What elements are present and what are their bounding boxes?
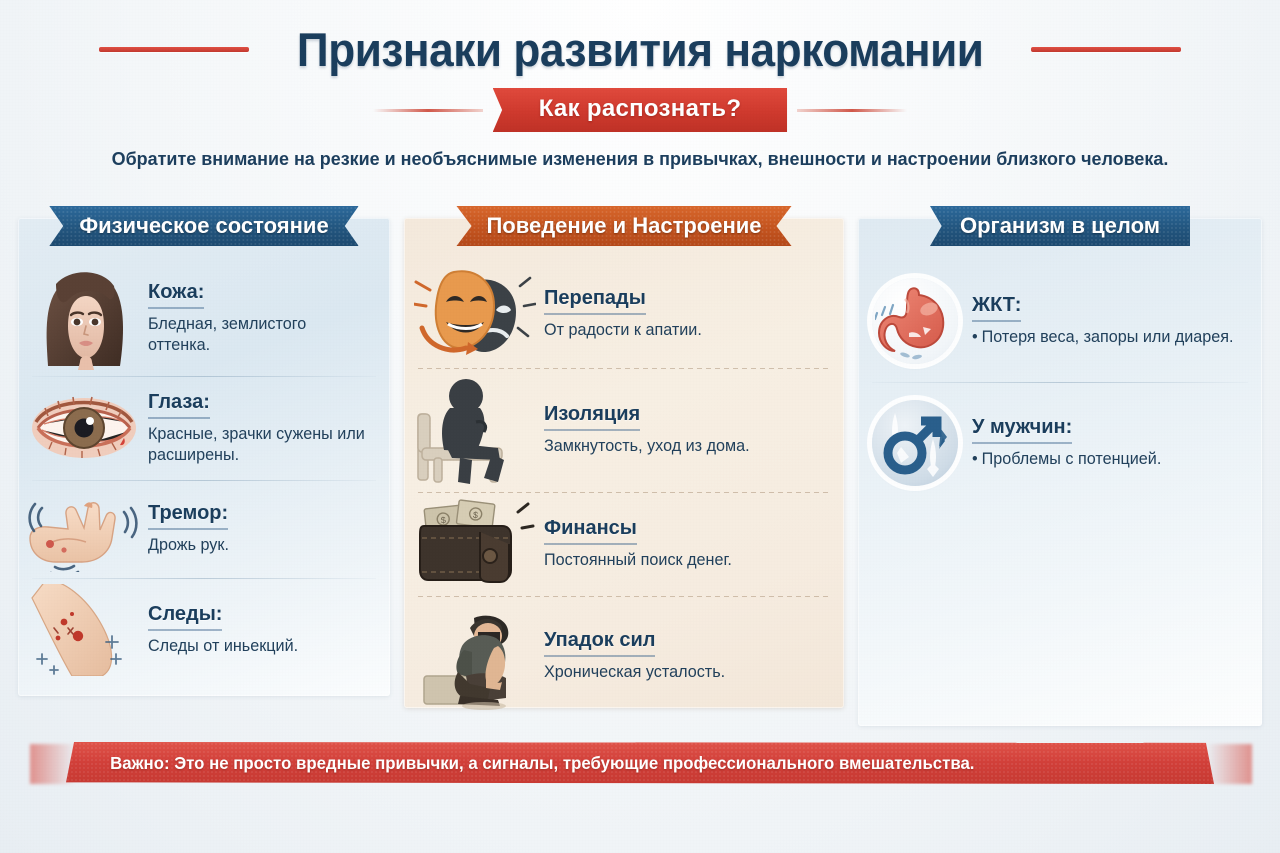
item-kicker: Глаза:: [148, 391, 210, 419]
header: Признаки развития наркомании Как распозн…: [0, 0, 1280, 190]
item-desc: Бледная, землистого оттенка.: [148, 314, 371, 354]
stomach-icon: [872, 278, 958, 364]
list-item[interactable]: Глаза: Красные, зрачки сужены или расшир…: [18, 376, 390, 480]
item-kicker: Финансы: [544, 517, 637, 545]
item-text: Изоляция Замкнутость, уход из дома.: [544, 403, 830, 456]
item-kicker: Изоляция: [544, 403, 640, 431]
item-desc: •Потеря веса, запоры или диарея.: [972, 327, 1242, 347]
exhausted-man-icon: [414, 602, 536, 710]
column-heading-behaviour: Поведение и Настроение: [456, 206, 791, 246]
item-text: Перепады От радости к апатии.: [544, 287, 830, 340]
item-kicker: У мужчин:: [972, 416, 1072, 444]
wallet-money-icon: $ $: [414, 498, 536, 590]
subtitle-dash-right: [797, 109, 907, 112]
person-on-chair-icon: [414, 374, 536, 486]
bullet-glyph: •: [972, 450, 978, 468]
list-item[interactable]: ЖКТ: •Потеря веса, запоры или диарея.: [858, 260, 1262, 382]
trembling-hand-icon: [28, 486, 140, 572]
item-desc: Красные, зрачки сужены или расширены.: [148, 424, 371, 464]
subtitle-dash-left: [373, 109, 483, 112]
item-kicker: ЖКТ:: [972, 294, 1021, 322]
item-kicker: Следы:: [148, 603, 222, 631]
item-kicker: Упадок сил: [544, 629, 655, 657]
list-item[interactable]: $ $ Фина: [404, 492, 844, 596]
item-desc: От радости к апатии.: [544, 320, 824, 340]
footer-fray-right: [1206, 744, 1252, 784]
item-desc-text: Проблемы с потенцией.: [982, 450, 1162, 468]
subtitle-badge: Как распознать?: [493, 88, 788, 132]
list-item[interactable]: Упадок сил Хроническая усталость.: [404, 596, 844, 716]
theatre-masks-icon: [414, 266, 536, 362]
item-desc: Дрожь рук.: [148, 535, 371, 555]
column-heading-physical: Физическое состояние: [49, 206, 358, 246]
item-text: Следы: Следы от иньекций.: [148, 603, 376, 656]
footer-fray-left: [30, 744, 76, 784]
item-text: Кожа: Бледная, землистого оттенка.: [148, 281, 376, 354]
item-desc-text: Потеря веса, запоры или диарея.: [982, 328, 1234, 346]
item-text: Финансы Постоянный поиск денег.: [544, 517, 830, 570]
list-item[interactable]: Тремор: Дрожь рук.: [18, 480, 390, 578]
title-dash-left: [99, 47, 249, 52]
male-symbol-icon: [872, 400, 958, 486]
subtitle-row: Как распознать?: [0, 88, 1280, 132]
list-item[interactable]: Следы: Следы от иньекций.: [18, 578, 390, 682]
bullet-glyph: •: [972, 328, 978, 346]
column-heading-body: Организм в целом: [930, 206, 1190, 246]
item-desc: Следы от иньекций.: [148, 636, 371, 656]
lead-paragraph: Обратите внимание на резкие и необъясним…: [19, 148, 1261, 170]
item-text: Упадок сил Хроническая усталость.: [544, 629, 830, 682]
item-desc: •Проблемы с потенцией.: [972, 449, 1242, 469]
item-text: У мужчин: •Проблемы с потенцией.: [966, 416, 1248, 469]
list-item[interactable]: Кожа: Бледная, землистого оттенка.: [18, 260, 390, 376]
woman-face-icon: [28, 266, 140, 370]
column-body: Организм в целом: [858, 218, 1262, 726]
items-behaviour: Перепады От радости к апатии.: [404, 260, 844, 700]
item-kicker: Перепады: [544, 287, 646, 315]
footer-banner: Важно: Это не просто вредные привычки, а…: [66, 742, 1214, 784]
column-physical: Физическое состояние: [18, 218, 390, 696]
item-kicker: Тремор:: [148, 502, 228, 530]
item-text: Глаза: Красные, зрачки сужены или расшир…: [148, 391, 376, 464]
column-behaviour: Поведение и Настроение: [404, 218, 844, 708]
item-text: Тремор: Дрожь рук.: [148, 502, 376, 555]
title-row: Признаки развития наркомании: [0, 22, 1280, 77]
item-desc: Постоянный поиск денег.: [544, 550, 824, 570]
red-eye-icon: [28, 382, 140, 474]
svg-text:$: $: [440, 515, 446, 525]
title-dash-right: [1031, 47, 1181, 52]
page-title: Признаки развития наркомании: [297, 22, 984, 77]
list-item[interactable]: У мужчин: •Проблемы с потенцией.: [858, 382, 1262, 504]
item-desc: Замкнутость, уход из дома.: [544, 436, 824, 456]
item-desc: Хроническая усталость.: [544, 662, 824, 682]
list-item[interactable]: Перепады От радости к апатии.: [404, 260, 844, 368]
items-body: ЖКТ: •Потеря веса, запоры или диарея.: [858, 260, 1262, 718]
list-item[interactable]: Изоляция Замкнутость, уход из дома.: [404, 368, 844, 492]
item-kicker: Кожа:: [148, 281, 204, 309]
items-physical: Кожа: Бледная, землистого оттенка.: [18, 260, 390, 688]
injection-marks-arm-icon: [28, 584, 140, 676]
item-text: ЖКТ: •Потеря веса, запоры или диарея.: [966, 294, 1248, 347]
footer-text: Важно: Это не просто вредные привычки, а…: [66, 753, 974, 774]
